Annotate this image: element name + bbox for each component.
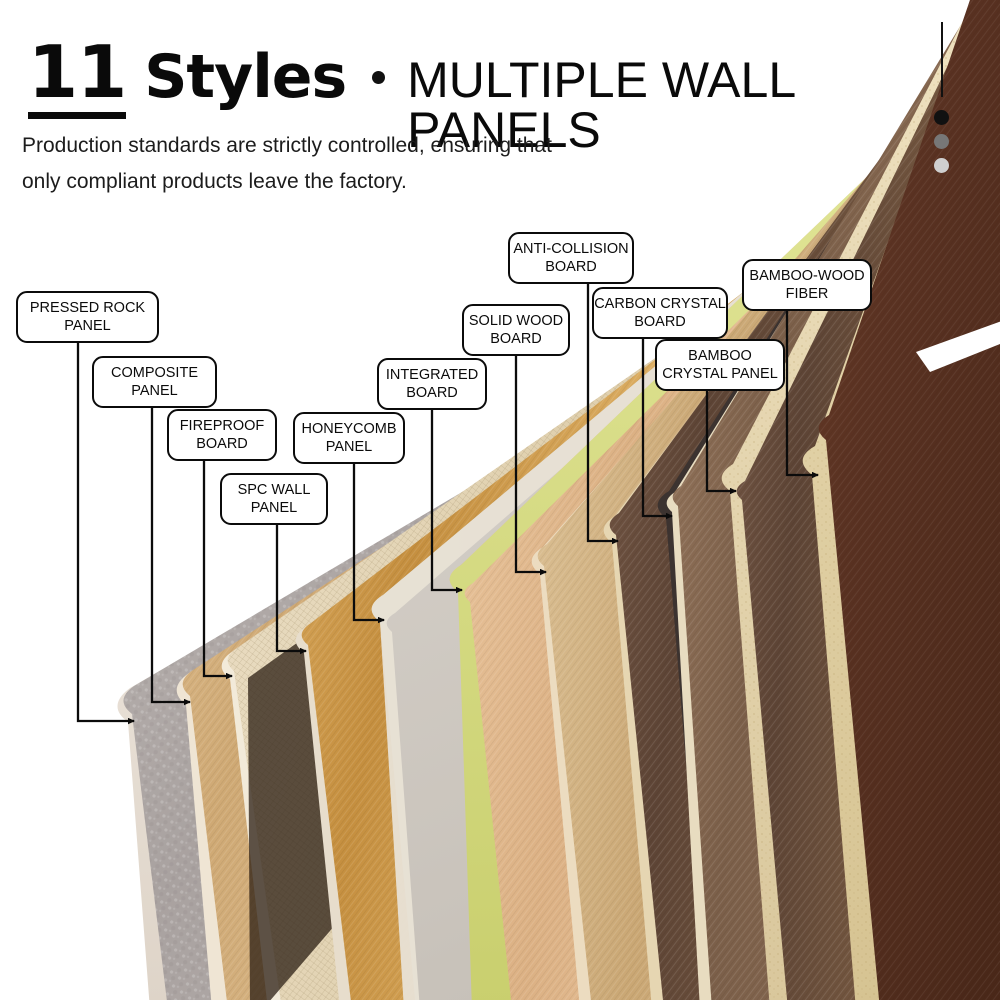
deco-vertical-line [941,22,943,97]
description: Production standards are strictly contro… [22,128,662,200]
deco-dot-1 [934,110,949,125]
bullet-dot-icon [372,71,385,84]
header: 11 Styles MULTIPLE WALL PANELS Productio… [0,0,1000,215]
label-anti-collision-board[interactable]: ANTI-COLLISIONBOARD [508,232,634,284]
label-composite-panel[interactable]: COMPOSITEPANEL [92,356,217,408]
label-text-line2: PANEL [131,382,177,400]
label-carbon-crystal-board[interactable]: CARBON CRYSTALBOARD [592,287,728,339]
label-pressed-rock-panel[interactable]: PRESSED ROCKPANEL [16,291,159,343]
label-text-line1: INTEGRATED [386,366,478,384]
label-text-line1: FIREPROOF [180,417,265,435]
deco-dot-3 [934,158,949,173]
label-text-line2: PANEL [64,317,110,335]
description-line-2: only compliant products leave the factor… [22,164,662,200]
label-text-line2: PANEL [326,438,372,456]
label-text-line2: BOARD [490,330,542,348]
label-text-line2: CRYSTAL PANEL [662,365,778,383]
label-spc-wall-panel[interactable]: SPC WALLPANEL [220,473,328,525]
label-text-line1: BAMBOO [688,347,752,365]
label-text-line2: BOARD [406,384,458,402]
label-bamboo-wood-fiber[interactable]: BAMBOO-WOODFIBER [742,259,872,311]
style-count-underline [28,112,126,119]
style-word: Styles [144,47,346,107]
label-text-line2: PANEL [251,499,297,517]
label-text-line1: SOLID WOOD [469,312,563,330]
description-line-1: Production standards are strictly contro… [22,128,662,164]
style-count: 11 [28,30,126,114]
label-solid-wood-board[interactable]: SOLID WOODBOARD [462,304,570,356]
label-text-line1: BAMBOO-WOOD [749,267,864,285]
label-fireproof-board[interactable]: FIREPROOFBOARD [167,409,277,461]
label-honeycomb-panel[interactable]: HONEYCOMBPANEL [293,412,405,464]
vertical-line-dots-marker [930,22,954,172]
label-text-line1: COMPOSITE [111,364,198,382]
label-text-line2: BOARD [196,435,248,453]
label-integrated-board[interactable]: INTEGRATEDBOARD [377,358,487,410]
deco-dot-2 [934,134,949,149]
label-text-line1: ANTI-COLLISION [513,240,628,258]
label-text-line1: CARBON CRYSTAL [594,295,726,313]
label-text-line2: BOARD [634,313,686,331]
label-bamboo-crystal-panel[interactable]: BAMBOOCRYSTAL PANEL [655,339,785,391]
label-text-line1: HONEYCOMB [301,420,396,438]
label-text-line2: BOARD [545,258,597,276]
label-text-line2: FIBER [786,285,829,303]
label-text-line1: SPC WALL [238,481,311,499]
style-count-wrap: 11 [28,36,126,108]
label-text-line1: PRESSED ROCK [30,299,145,317]
